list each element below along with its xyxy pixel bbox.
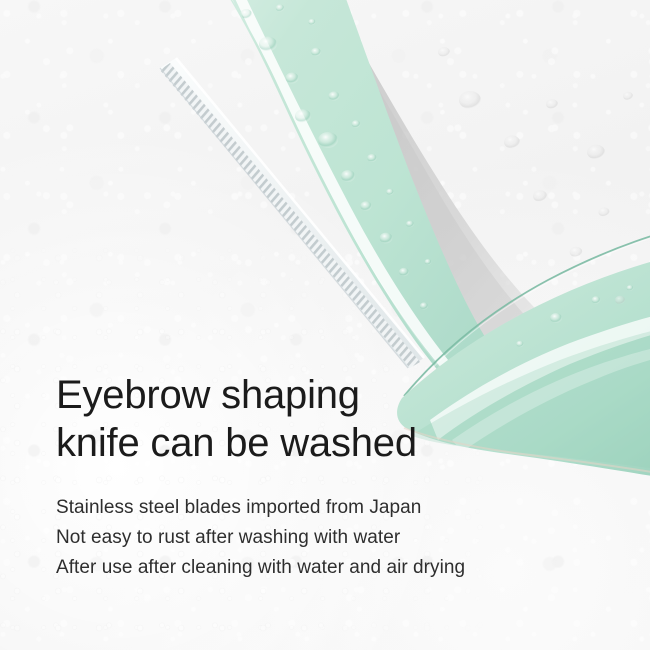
feature-line: After use after cleaning with water and … (56, 553, 616, 583)
razor-head (182, 0, 520, 404)
copy-block: Eyebrow shaping knife can be washed Stai… (56, 371, 616, 583)
feature-line: Stainless steel blades imported from Jap… (56, 493, 616, 523)
feature-line: Not easy to rust after washing with wate… (56, 523, 616, 553)
product-banner: Eyebrow shaping knife can be washed Stai… (0, 0, 650, 650)
feature-list: Stainless steel blades imported from Jap… (56, 467, 616, 583)
page-title: Eyebrow shaping knife can be washed (56, 371, 616, 467)
